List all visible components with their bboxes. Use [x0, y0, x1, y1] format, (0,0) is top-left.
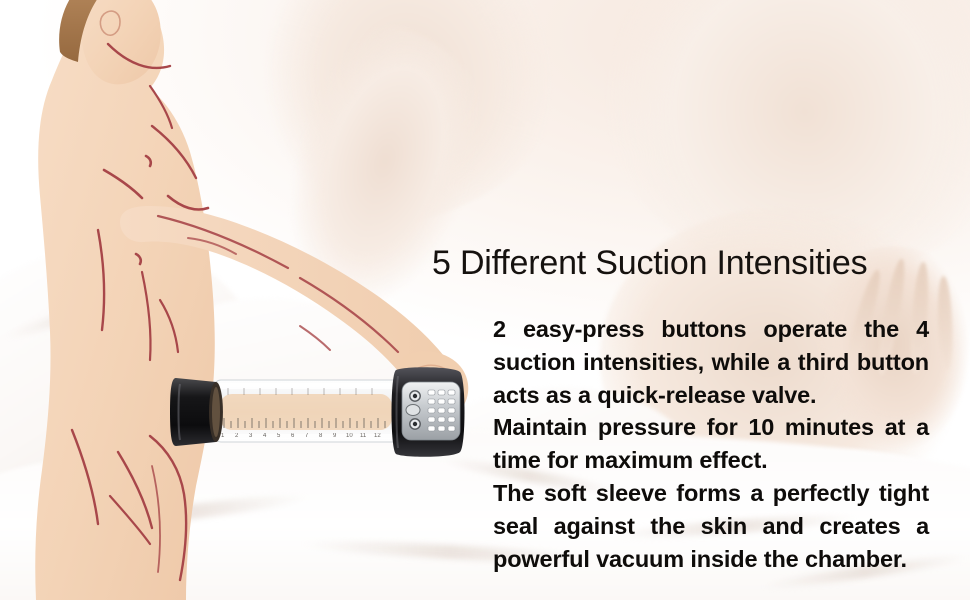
body-paragraph-1: 2 easy-press buttons operate the 4 sucti… [493, 313, 929, 411]
body-copy: 2 easy-press buttons operate the 4 sucti… [493, 313, 929, 575]
body-paragraph-3: The soft sleeve forms a perfectly tight … [493, 477, 929, 575]
body-paragraph-2: Maintain pressure for 10 minutes at a ti… [493, 411, 929, 477]
headline: 5 Different Suction Intensities [432, 243, 942, 283]
copy-block: 5 Different Suction Intensities 2 easy-p… [0, 0, 970, 600]
product-feature-banner: 123 456 789 101112 [0, 0, 970, 600]
